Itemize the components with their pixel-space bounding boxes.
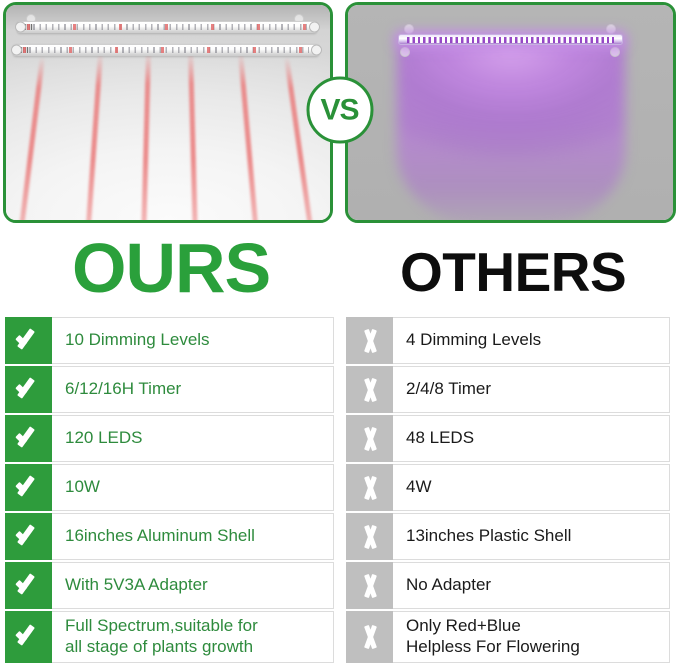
column-headings: OURS OTHERS — [0, 229, 679, 315]
cross-icon — [346, 317, 393, 364]
others-cell: 48 LEDS — [393, 415, 670, 462]
check-icon — [5, 464, 52, 511]
ours-cell: 10 Dimming Levels — [52, 317, 334, 364]
cross-icon — [346, 513, 393, 560]
table-row: 10 Dimming Levels 4 Dimming Levels — [5, 317, 673, 364]
strip-end-cap — [309, 22, 320, 33]
others-feature-text: 2/4/8 Timer — [406, 379, 491, 400]
column-gap — [334, 415, 346, 462]
column-gap — [334, 611, 346, 663]
ours-cell: 10W — [52, 464, 334, 511]
check-icon — [5, 562, 52, 609]
ours-scene-background — [6, 5, 330, 220]
cross-icon — [346, 611, 393, 663]
strip-end-cap — [11, 45, 22, 56]
table-row: Full Spectrum,suitable for all stage of … — [5, 611, 673, 663]
others-feature-text: 4W — [406, 477, 432, 498]
column-gap — [334, 317, 346, 364]
column-gap — [334, 513, 346, 560]
heading-ours: OURS — [72, 233, 270, 303]
heading-others: OTHERS — [400, 245, 626, 300]
mount-hook-icon — [606, 24, 616, 34]
table-row: 16inches Aluminum Shell 13inches Plastic… — [5, 513, 673, 560]
ours-feature-text: 120 LEDS — [65, 428, 143, 449]
ours-feature-text: 10 Dimming Levels — [65, 330, 210, 351]
table-row: With 5V3A Adapter No Adapter — [5, 562, 673, 609]
led-dots — [27, 24, 307, 30]
column-gap — [334, 464, 346, 511]
comparison-photos: VS — [0, 0, 679, 229]
mount-hook-icon — [400, 47, 410, 57]
led-strip — [17, 21, 317, 33]
led-strip — [398, 34, 623, 45]
ours-photo-panel — [3, 2, 333, 223]
others-feature-text: 4 Dimming Levels — [406, 330, 541, 351]
cross-icon — [346, 464, 393, 511]
check-icon — [5, 611, 52, 663]
check-icon — [5, 366, 52, 413]
cross-icon — [346, 562, 393, 609]
strip-end-cap — [15, 22, 26, 33]
others-cell: 13inches Plastic Shell — [393, 513, 670, 560]
others-feature-text: 13inches Plastic Shell — [406, 526, 571, 547]
led-dots — [407, 37, 614, 43]
others-feature-text: Only Red+Blue Helpless For Flowering — [406, 616, 580, 657]
vs-badge: VS — [306, 77, 373, 144]
strip-end-cap — [311, 45, 322, 56]
table-row: 120 LEDS 48 LEDS — [5, 415, 673, 462]
led-strip — [13, 44, 319, 56]
ours-feature-text: 16inches Aluminum Shell — [65, 526, 255, 547]
cross-icon — [346, 366, 393, 413]
table-row: 6/12/16H Timer 2/4/8 Timer — [5, 366, 673, 413]
ours-feature-text: With 5V3A Adapter — [65, 575, 208, 596]
others-photo-panel — [345, 2, 676, 223]
column-gap — [334, 366, 346, 413]
ours-cell: 16inches Aluminum Shell — [52, 513, 334, 560]
ours-cell: 120 LEDS — [52, 415, 334, 462]
vs-badge-label: VS — [320, 95, 358, 125]
column-gap — [334, 562, 346, 609]
others-cell: No Adapter — [393, 562, 670, 609]
check-icon — [5, 513, 52, 560]
others-cell: Only Red+Blue Helpless For Flowering — [393, 611, 670, 663]
others-cell: 2/4/8 Timer — [393, 366, 670, 413]
cross-icon — [346, 415, 393, 462]
table-row: 10W 4W — [5, 464, 673, 511]
ours-feature-text: Full Spectrum,suitable for all stage of … — [65, 616, 258, 657]
check-icon — [5, 415, 52, 462]
others-feature-text: No Adapter — [406, 575, 491, 596]
comparison-table: 10 Dimming Levels 4 Dimming Levels 6/12/… — [5, 317, 673, 665]
others-cell: 4 Dimming Levels — [393, 317, 670, 364]
led-dots — [23, 47, 309, 53]
purple-light-glow — [397, 39, 625, 223]
ours-cell: With 5V3A Adapter — [52, 562, 334, 609]
ours-cell: Full Spectrum,suitable for all stage of … — [52, 611, 334, 663]
others-feature-text: 48 LEDS — [406, 428, 474, 449]
ours-feature-text: 10W — [65, 477, 100, 498]
check-icon — [5, 317, 52, 364]
ours-cell: 6/12/16H Timer — [52, 366, 334, 413]
others-cell: 4W — [393, 464, 670, 511]
mount-hook-icon — [610, 47, 620, 57]
ours-feature-text: 6/12/16H Timer — [65, 379, 181, 400]
mount-hook-icon — [404, 24, 414, 34]
